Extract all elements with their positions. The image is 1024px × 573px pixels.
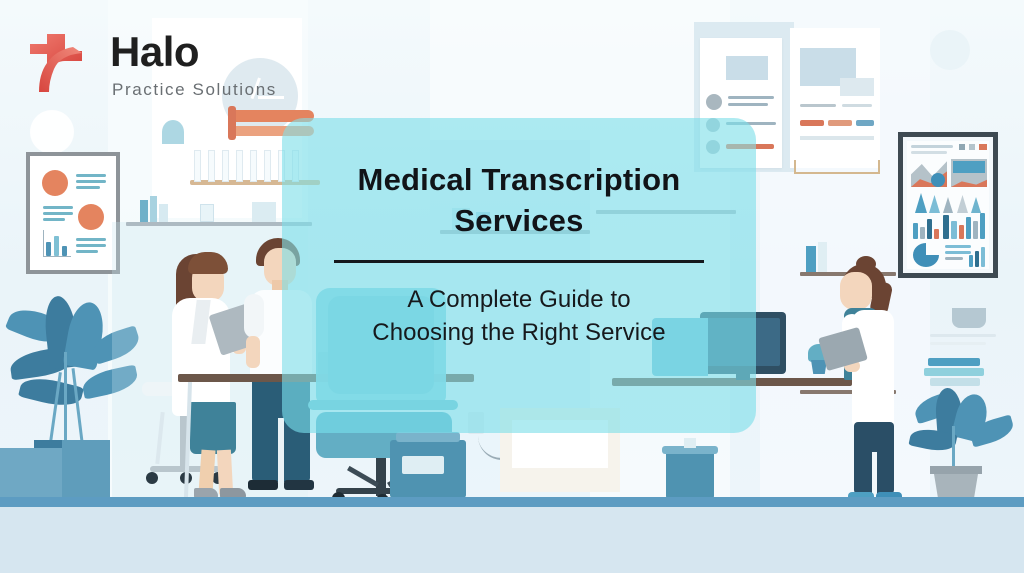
document-coral-bar-3 [828,120,852,126]
page-title: Medical Transcription Services [358,160,681,242]
document-thumb-block [726,56,768,80]
poster-bar [913,223,918,239]
poster-dot [931,173,945,187]
decor-circle-3 [930,30,970,70]
poster-bar [46,242,51,256]
shelf-jar [200,204,214,222]
sleeve [244,294,264,338]
page-title-line-2: Services [454,203,583,238]
hero-banner: Halo Practice Solutions Medical Transcri… [0,0,1024,573]
document-image-block-2 [840,78,874,96]
poster-bar [980,213,985,239]
arm-skin [246,336,260,368]
shelf-label-line [930,334,996,337]
poster-pie-2 [78,204,104,230]
poster-bar [62,246,67,256]
book-stack-right-2 [924,368,984,376]
leg-split [872,452,877,494]
document-blue-bar [856,120,874,126]
shelf-box [252,202,276,222]
poster-bar [959,225,964,239]
printer-panel [402,456,444,474]
document-text-line [800,104,836,107]
shelf-books-2 [150,196,157,222]
shelf-folder [806,246,816,272]
printer-top [396,432,460,442]
small-plant-leaves [162,120,184,144]
poster-bar [920,227,925,239]
title-divider [334,260,704,263]
document-text-line [728,96,774,99]
medical-cross-swoosh-icon [26,30,92,96]
framed-chart-poster-left [26,152,120,274]
skirt [190,402,236,454]
page-subtitle-line-1: A Complete Guide to [407,286,630,313]
document-text-line [728,103,768,106]
shelf-books-1 [140,200,148,222]
page-title-line-1: Medical Transcription [358,162,681,197]
poster-bar [54,236,59,256]
poster-bar [934,229,939,239]
brand-logo[interactable]: Halo Practice Solutions [26,28,306,118]
poster-bar [943,215,949,239]
document-text-line [842,104,872,107]
shoe [248,480,278,490]
poster-bar [975,251,979,267]
poster-pie-1 [42,170,68,196]
plant-pot-right [930,466,982,474]
chair-base-spoke [347,466,379,487]
shelf-books-3 [159,204,168,222]
floor-foreground [0,507,1024,573]
poster-cone [971,197,981,213]
poster-cone [915,193,927,213]
potted-plant-right [908,386,1016,504]
page-subtitle-line-2: Choosing the Right Service [372,319,665,346]
plant-stems [72,368,84,442]
document-avatar-dot [706,94,722,110]
storage-bin-center [666,452,714,498]
page-subtitle: A Complete Guide to Choosing the Right S… [372,283,665,349]
brand-name: Halo [110,28,199,76]
hero-overlay-card: Medical Transcription Services A Complet… [282,118,756,433]
basket-right [952,308,986,328]
plant-stems [64,352,67,442]
poster-bar [981,247,985,267]
face [840,272,872,310]
poster-cone [929,195,940,213]
poster-bar [951,221,957,239]
book-stack-right-3 [930,378,980,386]
floor-band [0,497,1024,507]
poster-cone [943,197,953,213]
brand-tagline: Practice Solutions [112,80,277,100]
poster-bar [973,221,978,239]
cabinet-left-floor-2 [62,440,110,498]
book-stack-right [928,358,980,366]
shelf-folder-2 [818,242,827,272]
mockup-legs [794,160,880,174]
shelf-label-line [930,342,986,345]
poster-cone [957,195,968,213]
storage-bin-handle [684,438,696,448]
hair-front [188,252,228,274]
poster-bar [966,217,971,239]
poster-bar [927,219,932,239]
cabinet-left-floor [0,448,62,498]
document-coral-bar-2 [800,120,824,126]
poster-panel-blue [953,161,985,173]
document-table-line [800,136,874,140]
poster-bar [969,255,973,267]
